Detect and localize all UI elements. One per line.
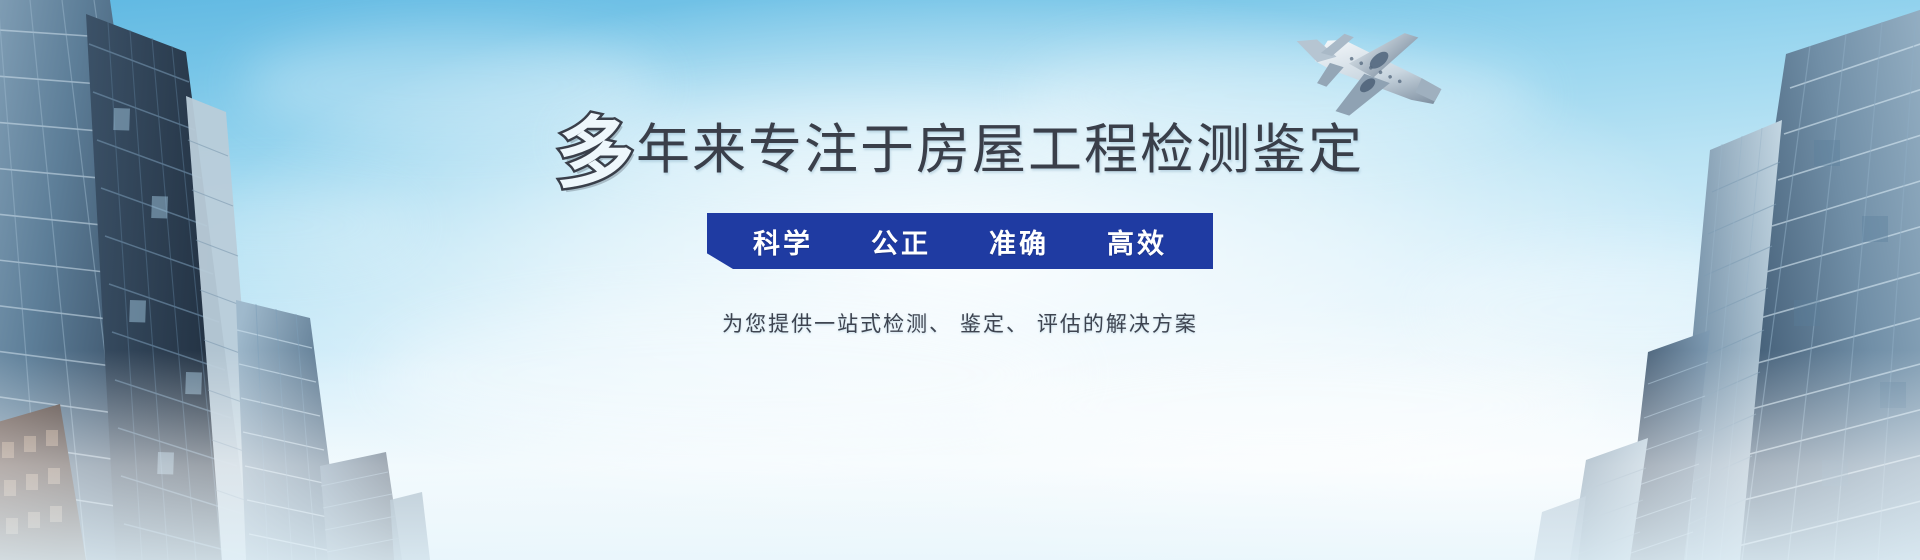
hero-banner: 多 年来专注于房屋工程检测鉴定 科学 公正 准确 高效 为您提供一站式检测、 鉴… — [0, 0, 1920, 560]
page-subtitle: 为您提供一站式检测、 鉴定、 评估的解决方案 — [722, 308, 1198, 338]
headline-accent-char: 多 — [556, 114, 634, 192]
banner-content: 多 年来专注于房屋工程检测鉴定 科学 公正 准确 高效 为您提供一站式检测、 鉴… — [0, 0, 1920, 560]
ribbon-item-0: 科学 — [753, 222, 813, 261]
headline-text: 年来专注于房屋工程检测鉴定 — [636, 121, 1364, 180]
page-title: 多 年来专注于房屋工程检测鉴定 — [556, 112, 1364, 190]
ribbon-item-2: 准确 — [989, 222, 1049, 261]
value-ribbon: 科学 公正 准确 高效 — [707, 213, 1213, 269]
ribbon-item-3: 高效 — [1107, 222, 1167, 261]
ribbon-item-1: 公正 — [871, 222, 931, 261]
ribbon-shape: 科学 公正 准确 高效 — [707, 213, 1213, 269]
